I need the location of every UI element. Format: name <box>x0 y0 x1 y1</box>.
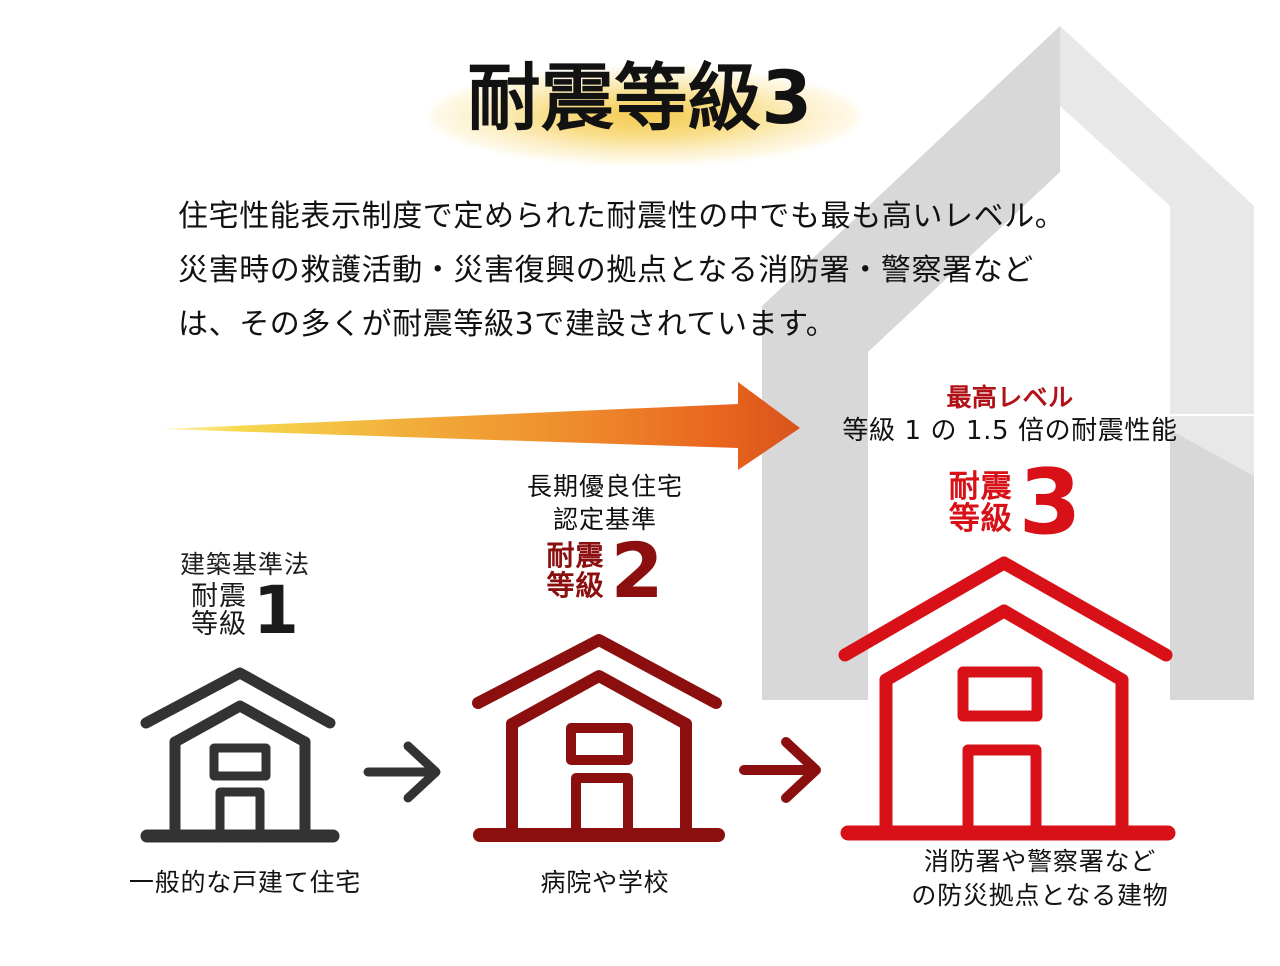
grade-2-label-group: 長期優良住宅 認定基準 耐震 等級 2 <box>460 470 750 606</box>
callout-headline: 最高レベル <box>800 382 1220 413</box>
caption-grade-2: 病院や学校 <box>455 866 755 900</box>
arrow-right-icon-step-2 <box>744 742 816 798</box>
grade-2-heading-line2: 認定基準 <box>460 503 750 536</box>
caption-grade-3-line1: 消防署や警察署など <box>840 845 1240 879</box>
grade-2-kanji-top: 耐震 <box>547 541 605 571</box>
lead-paragraph: 住宅性能表示制度で定められた耐震性の中でも最も高いレベル。 災害時の救護活動・災… <box>178 190 1138 352</box>
house-outline-icon-grade-3 <box>845 563 1168 833</box>
lead-line-3: は、その多くが耐震等級3で建設されています。 <box>178 298 1138 352</box>
slide-canvas: 耐震等級3 住宅性能表示制度で定められた耐震性の中でも最も高いレベル。 災害時の… <box>0 0 1280 966</box>
grade-1-heading: 建築基準法 <box>120 548 370 581</box>
grade-3-badge-kanji: 耐震 等級 <box>949 471 1013 537</box>
grade-3-badge: 耐震 等級 3 <box>880 462 1150 545</box>
caption-grade-3-line2: の防災拠点となる建物 <box>840 879 1240 913</box>
grade-1-badge: 耐震 等級 1 <box>120 581 370 642</box>
caption-grade-1: 一般的な戸建て住宅 <box>60 866 430 900</box>
lead-line-1: 住宅性能表示制度で定められた耐震性の中でも最も高いレベル。 <box>178 190 1138 244</box>
grade-1-numeral: 1 <box>253 581 299 642</box>
caption-grade-3: 消防署や警察署など の防災拠点となる建物 <box>840 845 1240 913</box>
grade-2-badge: 耐震 等級 2 <box>460 536 750 606</box>
grade-2-kanji-bottom: 等級 <box>547 571 605 601</box>
grade-3-numeral: 3 <box>1019 462 1082 545</box>
callout-block: 最高レベル 等級 1 の 1.5 倍の耐震性能 <box>800 382 1220 449</box>
house-outline-icon-grade-1 <box>146 673 333 836</box>
grade-1-label-group: 建築基準法 耐震 等級 1 <box>120 548 370 642</box>
page-title: 耐震等級3 <box>0 62 1280 135</box>
grade-3-label-group: 耐震 等級 3 <box>880 462 1150 545</box>
grade-3-kanji-bottom: 等級 <box>949 503 1013 536</box>
grade-2-badge-kanji: 耐震 等級 <box>547 541 605 600</box>
title-block: 耐震等級3 <box>0 62 1280 135</box>
callout-subline: 等級 1 の 1.5 倍の耐震性能 <box>800 413 1220 449</box>
grade-1-kanji-bottom: 等級 <box>191 611 247 640</box>
grade-2-numeral: 2 <box>611 536 664 606</box>
grade-3-kanji-top: 耐震 <box>949 471 1013 504</box>
lead-line-2: 災害時の救護活動・災害復興の拠点となる消防署・警察署など <box>178 244 1138 298</box>
grade-1-badge-kanji: 耐震 等級 <box>191 583 247 640</box>
arrow-right-icon-step-1 <box>368 746 436 798</box>
grade-1-kanji-top: 耐震 <box>191 583 247 612</box>
house-outline-icon-grade-2 <box>478 640 718 835</box>
grade-2-heading-line1: 長期優良住宅 <box>460 470 750 503</box>
